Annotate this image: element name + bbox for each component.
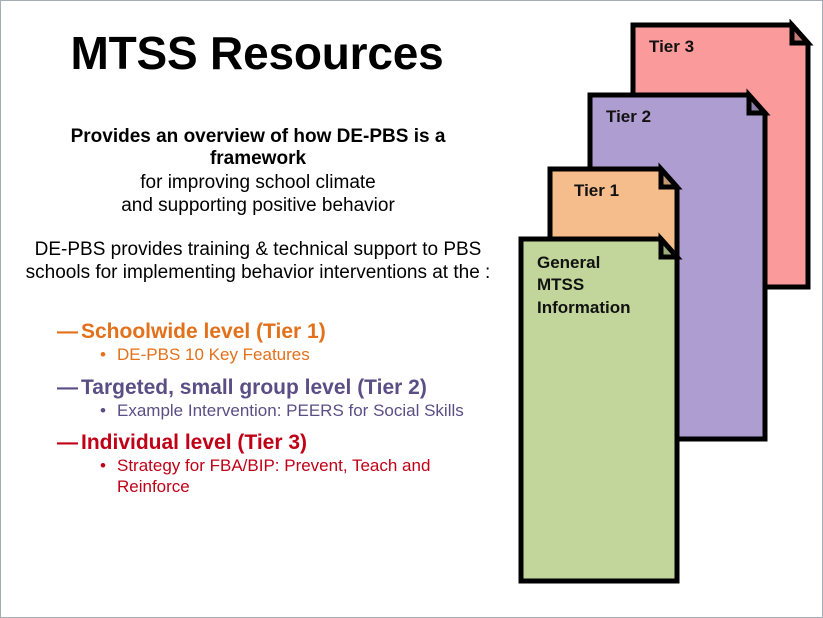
tier-group-1: — Schoolwide level (Tier 1) • DE-PBS 10 …: [57, 319, 513, 366]
bullet-dot-icon: •: [100, 345, 117, 365]
document-label-general: General MTSS Information: [537, 252, 631, 319]
page-title: MTSS Resources: [1, 29, 513, 77]
tier-heading-3: — Individual level (Tier 3): [57, 430, 513, 455]
overview-regular-line-2: and supporting positive behavior: [23, 195, 493, 217]
tier-heading-label-1: Schoolwide level (Tier 1): [81, 319, 513, 344]
bullet-dot-icon: •: [100, 401, 117, 421]
em-dash-icon: —: [57, 319, 81, 344]
slide-canvas: MTSS Resources Provides an overview of h…: [0, 0, 823, 618]
overview-block: Provides an overview of how DE-PBS is a …: [23, 126, 493, 218]
tier-heading-label-3: Individual level (Tier 3): [81, 430, 513, 455]
tier-group-2: — Targeted, small group level (Tier 2) •…: [57, 375, 513, 422]
tier-bullet-3: • Strategy for FBA/BIP: Prevent, Teach a…: [100, 456, 513, 497]
document-label-tier-2: Tier 2: [606, 106, 651, 128]
overview-regular-line-1: for improving school climate: [23, 172, 493, 194]
tier-bullet-1: • DE-PBS 10 Key Features: [100, 345, 513, 365]
em-dash-icon: —: [57, 375, 81, 400]
document-fold-corner-tier-3: [792, 25, 808, 43]
text-column: MTSS Resources Provides an overview of h…: [1, 1, 513, 618]
tier-bullet-label-3: Strategy for FBA/BIP: Prevent, Teach and…: [117, 456, 467, 497]
tier-bullet-label-1: DE-PBS 10 Key Features: [117, 345, 467, 365]
overview-bold-line-1: Provides an overview of how DE-PBS is a: [23, 126, 493, 148]
tier-group-3: — Individual level (Tier 3) • Strategy f…: [57, 430, 513, 497]
tier-bullet-2: • Example Intervention: PEERS for Social…: [100, 401, 513, 421]
document-label-tier-1: Tier 1: [574, 180, 619, 202]
em-dash-icon: —: [57, 430, 81, 455]
tier-heading-2: — Targeted, small group level (Tier 2): [57, 375, 513, 400]
tier-heading-1: — Schoolwide level (Tier 1): [57, 319, 513, 344]
tier-heading-label-2: Targeted, small group level (Tier 2): [81, 375, 513, 400]
bullet-dot-icon: •: [100, 456, 117, 476]
tier-bullet-label-2: Example Intervention: PEERS for Social S…: [117, 401, 467, 421]
overview-bold-line-2: framework: [23, 148, 493, 170]
document-label-tier-3: Tier 3: [649, 36, 694, 58]
tier-list: — Schoolwide level (Tier 1) • DE-PBS 10 …: [57, 319, 513, 506]
support-statement: DE-PBS provides training & technical sup…: [15, 239, 501, 285]
document-stack: Tier 3 Tier 2 Tier 1 General MTSS Inform…: [509, 19, 823, 604]
